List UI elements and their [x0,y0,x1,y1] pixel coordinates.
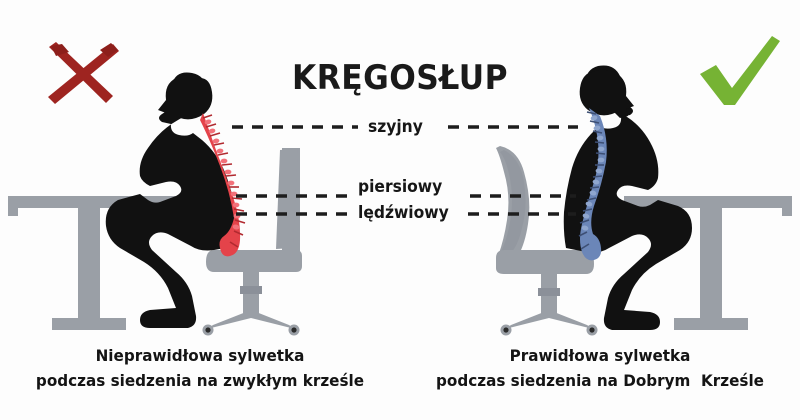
bad-posture-scene [0,0,400,340]
caption-good-line-2: podczas siedzenia na Dobrym Krześle [410,369,790,394]
spine-region-label-cervical: szyjny [368,117,423,136]
caption-good-line-1: Prawidłowa sylwetka [410,344,790,369]
caption-good-posture: Prawidłowa sylwetka podczas siedzenia na… [410,344,790,394]
good-posture-scene [400,0,800,340]
spine-region-label-lumbar: lędźwiowy [358,203,449,222]
spine-region-label-thoracic: piersiowy [358,177,442,196]
person-silhouette-left [106,72,238,328]
caption-bad-line-2: podczas siedzenia na zwykłym krześle [10,369,390,394]
caption-bad-posture: Nieprawidłowa sylwetka podczas siedzenia… [10,344,390,394]
spine-posture-infographic: KRĘGOSŁUP [0,0,800,420]
caption-bad-line-1: Nieprawidłowa sylwetka [10,344,390,369]
